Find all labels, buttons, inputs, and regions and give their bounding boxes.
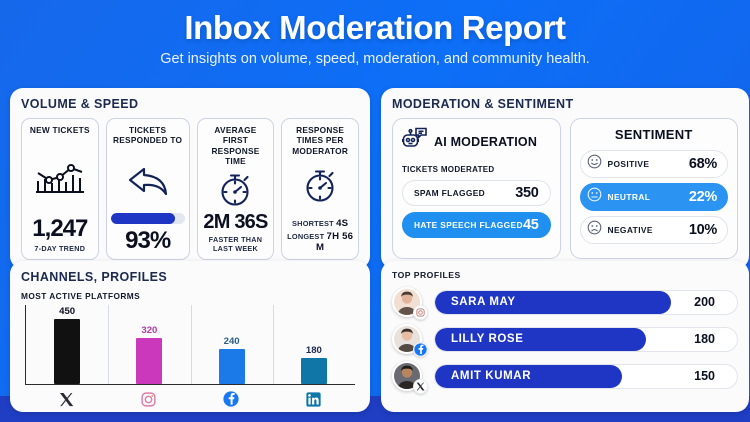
hate-speech-flagged-value: 45 [523, 217, 539, 233]
sentiment-negative-label: NEGATIVE [608, 225, 689, 235]
shortest-label: SHORTEST [292, 219, 334, 228]
moderation-sentiment-title: MODERATION & SENTIMENT [392, 97, 738, 111]
platforms-bar-chart: 450320240180 [25, 305, 355, 403]
moderation-sentiment-cards: AI MODERATION TICKETS MODERATED SPAM FLA… [392, 118, 738, 259]
profile-bar-fill: SARA MAY [435, 291, 671, 314]
card-tickets-responded[interactable]: TICKETS RESPONDED TO 93% [106, 118, 190, 260]
chart-plot-area: 450320240180 [25, 305, 355, 385]
chart-bar-rect [136, 338, 162, 384]
instagram-icon[interactable] [108, 389, 191, 409]
moderation-sentiment-panel: MODERATION & SENTIMENT [381, 88, 749, 269]
header: Inbox Moderation Report Get insights on … [0, 0, 750, 67]
panels-row-2: CHANNELS, PROFILES MOST ACTIVE PLATFORMS… [10, 261, 740, 412]
card-response-per-moderator-label: RESPONSE TIMES PER MODERATOR [286, 125, 354, 156]
sentiment-title: SENTIMENT [580, 127, 729, 142]
chart-subtitle: MOST ACTIVE PLATFORMS [21, 291, 359, 301]
ai-moderation-card[interactable]: AI MODERATION TICKETS MODERATED SPAM FLA… [392, 118, 561, 259]
card-tickets-responded-label: TICKETS RESPONDED TO [111, 125, 185, 146]
chart-bar-rect [219, 349, 245, 384]
linkedin-icon[interactable] [273, 389, 356, 409]
profile-row[interactable]: AMIT KUMAR150 [392, 361, 738, 391]
profile-name: LILLY ROSE [451, 333, 523, 345]
card-avg-first-response[interactable]: AVERAGE FIRST RESPONSE TIME [197, 118, 275, 260]
chart-bar-label: 320 [141, 325, 157, 336]
responded-progress-fill [111, 213, 175, 224]
responded-progress-bar [111, 213, 185, 224]
card-avg-first-response-sub: FASTER THAN LAST WEEK [202, 235, 270, 253]
smiley-negative-icon [587, 220, 602, 240]
avatar[interactable] [392, 361, 422, 391]
spam-flagged-value: 350 [515, 185, 538, 201]
profile-bar-track: LILLY ROSE180 [434, 327, 738, 352]
report-canvas: Inbox Moderation Report Get insights on … [0, 0, 750, 422]
sentiment-card[interactable]: SENTIMENT POSITIVE 68% [570, 118, 739, 259]
chart-axis-icons [25, 389, 355, 409]
page-subtitle: Get insights on volume, speed, moderatio… [0, 51, 750, 67]
spam-flagged-label: SPAM FLAGGED [414, 188, 485, 198]
shortest-time-row: SHORTEST 4S [286, 218, 354, 229]
sentiment-row-negative[interactable]: NEGATIVE 10% [580, 216, 729, 244]
sentiment-row-positive[interactable]: POSITIVE 68% [580, 150, 729, 178]
reply-arrow-icon [126, 151, 170, 211]
sentiment-row-neutral[interactable]: NEUTRAL 22% [580, 183, 729, 211]
top-profiles-title: TOP PROFILES [392, 270, 738, 280]
avatar[interactable] [392, 324, 422, 354]
channels-profiles-panel: CHANNELS, PROFILES MOST ACTIVE PLATFORMS… [10, 261, 370, 412]
card-new-tickets-sub: 7-DAY TREND [34, 244, 85, 253]
chart-bar-instagram[interactable]: 320 [108, 305, 190, 384]
ai-moderation-title: AI MODERATION [434, 135, 537, 149]
profile-row[interactable]: LILLY ROSE180 [392, 324, 738, 354]
volume-speed-title: VOLUME & SPEED [21, 97, 359, 111]
stopwatch-icon [301, 161, 339, 211]
profile-bar-track: SARA MAY200 [434, 290, 738, 315]
card-new-tickets-value: 1,247 [32, 217, 87, 241]
card-avg-first-response-label: AVERAGE FIRST RESPONSE TIME [202, 125, 270, 166]
longest-label: LONGEST [287, 232, 324, 241]
chart-bar-rect [301, 358, 327, 384]
shortest-value: 4S [336, 218, 348, 229]
tickets-moderated-label: TICKETS MODERATED [402, 165, 551, 174]
profile-value: 180 [694, 332, 737, 346]
profile-value: 200 [694, 295, 737, 309]
chart-bar-rect [54, 319, 80, 384]
robot-chat-icon [402, 127, 428, 156]
smiley-positive-icon [587, 154, 602, 174]
profile-bar-track: AMIT KUMAR150 [434, 364, 738, 389]
avatar[interactable] [392, 287, 422, 317]
moderator-times: SHORTEST 4S LONGEST 7H 56 M [286, 216, 354, 253]
card-response-per-moderator[interactable]: RESPONSE TIMES PER MODERATOR [281, 118, 359, 260]
sentiment-negative-value: 10% [689, 222, 717, 238]
longest-time-row: LONGEST 7H 56 M [286, 231, 354, 253]
x-twitter-icon [413, 379, 428, 394]
profile-value: 150 [694, 369, 737, 383]
sentiment-neutral-label: NEUTRAL [608, 192, 689, 202]
top-profiles-list: SARA MAY200LILLY ROSE180AMIT KUMAR150 [392, 287, 738, 391]
hate-speech-flagged-label: HATE SPEECH FLAGGED [414, 220, 523, 230]
page-title: Inbox Moderation Report [0, 11, 750, 46]
volume-speed-panel: VOLUME & SPEED NEW TICKETS [10, 88, 370, 269]
facebook-icon[interactable] [190, 389, 273, 409]
profile-bar-fill: AMIT KUMAR [435, 365, 622, 388]
card-new-tickets-label: NEW TICKETS [30, 125, 90, 135]
profile-row[interactable]: SARA MAY200 [392, 287, 738, 317]
hate-speech-flagged-row[interactable]: HATE SPEECH FLAGGED 45 [402, 212, 551, 238]
ai-moderation-header: AI MODERATION [402, 127, 551, 156]
bar-line-chart-icon [34, 140, 86, 214]
sentiment-neutral-value: 22% [689, 189, 717, 205]
profile-bar-fill: LILLY ROSE [435, 328, 646, 351]
card-avg-first-response-value: 2M 36S [203, 212, 267, 232]
channels-profiles-title: CHANNELS, PROFILES [21, 270, 359, 284]
chart-bar-linkedin[interactable]: 180 [273, 305, 355, 384]
panels-row-1: VOLUME & SPEED NEW TICKETS [10, 88, 740, 269]
volume-speed-cards: NEW TICKETS [21, 118, 359, 260]
chart-bar-facebook[interactable]: 240 [191, 305, 273, 384]
facebook-icon [413, 342, 428, 357]
chart-bar-label: 450 [59, 306, 75, 317]
card-tickets-responded-value: 93% [125, 229, 170, 253]
sentiment-positive-label: POSITIVE [608, 159, 689, 169]
chart-bar-x[interactable]: 450 [26, 305, 108, 384]
sentiment-positive-value: 68% [689, 156, 717, 172]
stopwatch-icon [216, 171, 254, 209]
x-twitter-icon[interactable] [25, 389, 108, 409]
instagram-icon [413, 305, 428, 320]
profile-name: SARA MAY [451, 296, 516, 308]
chart-bar-label: 240 [224, 336, 240, 347]
chart-bar-label: 180 [306, 345, 322, 356]
spam-flagged-row[interactable]: SPAM FLAGGED 350 [402, 180, 551, 206]
smiley-neutral-icon [587, 187, 602, 207]
top-profiles-panel: TOP PROFILES SARA MAY200LILLY ROSE180AMI… [381, 261, 749, 412]
profile-name: AMIT KUMAR [451, 370, 531, 382]
card-new-tickets[interactable]: NEW TICKETS [21, 118, 99, 260]
